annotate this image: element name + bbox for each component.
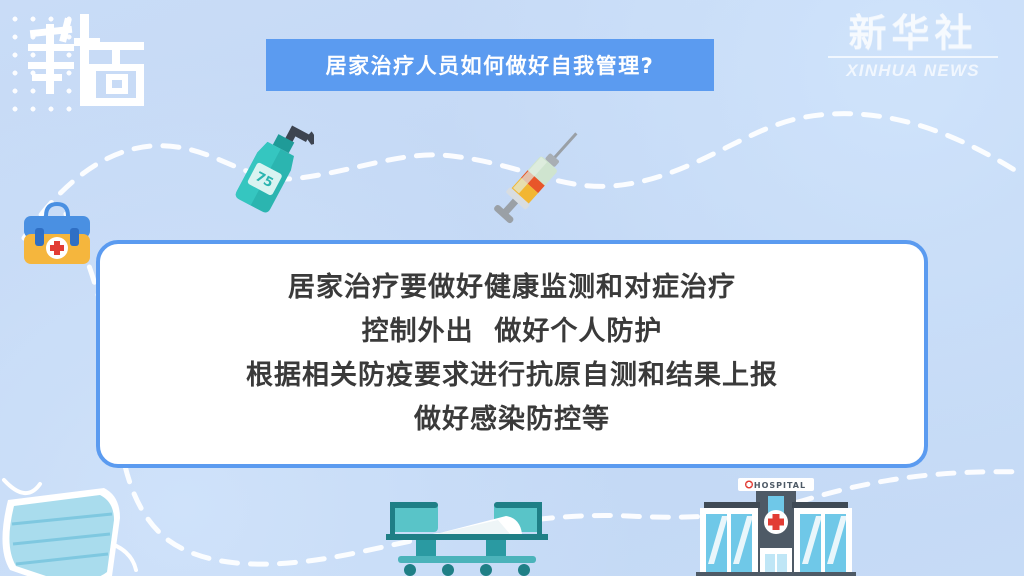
face-mask-icon <box>0 474 142 576</box>
medical-kit-icon <box>18 198 96 272</box>
xinhua-logo-en: XINHUA NEWS <box>824 61 1002 81</box>
page-title: 居家治疗人员如何做好自我管理? <box>326 50 655 80</box>
hospital-bed-icon <box>376 494 558 576</box>
infographic-canvas: 新华社 XINHUA NEWS 居家治疗人员如何做好自我管理? 居家治疗要做好健… <box>0 0 1024 576</box>
hospital-sign-text: HOSPITAL <box>754 481 806 490</box>
xinhua-logo: 新华社 XINHUA NEWS <box>824 14 1002 81</box>
card-line-1: 居家治疗要做好健康监测和对症治疗 <box>288 266 736 310</box>
info-card: 居家治疗要做好健康监测和对症治疗 控制外出 做好个人防护 根据相关防疫要求进行抗… <box>96 240 928 468</box>
card-line-4: 做好感染防控等 <box>414 398 610 442</box>
kehua-logo <box>26 12 156 110</box>
title-banner: 居家治疗人员如何做好自我管理? <box>266 39 714 91</box>
spray-bottle-icon: 75 <box>228 112 314 214</box>
card-line-3: 根据相关防疫要求进行抗原自测和结果上报 <box>246 354 778 398</box>
hospital-building-icon: HOSPITAL <box>690 472 862 576</box>
xinhua-logo-rule <box>828 56 998 58</box>
xinhua-logo-cn: 新华社 <box>824 14 1002 54</box>
card-line-2: 控制外出 做好个人防护 <box>362 310 663 354</box>
syringe-icon <box>484 118 596 234</box>
